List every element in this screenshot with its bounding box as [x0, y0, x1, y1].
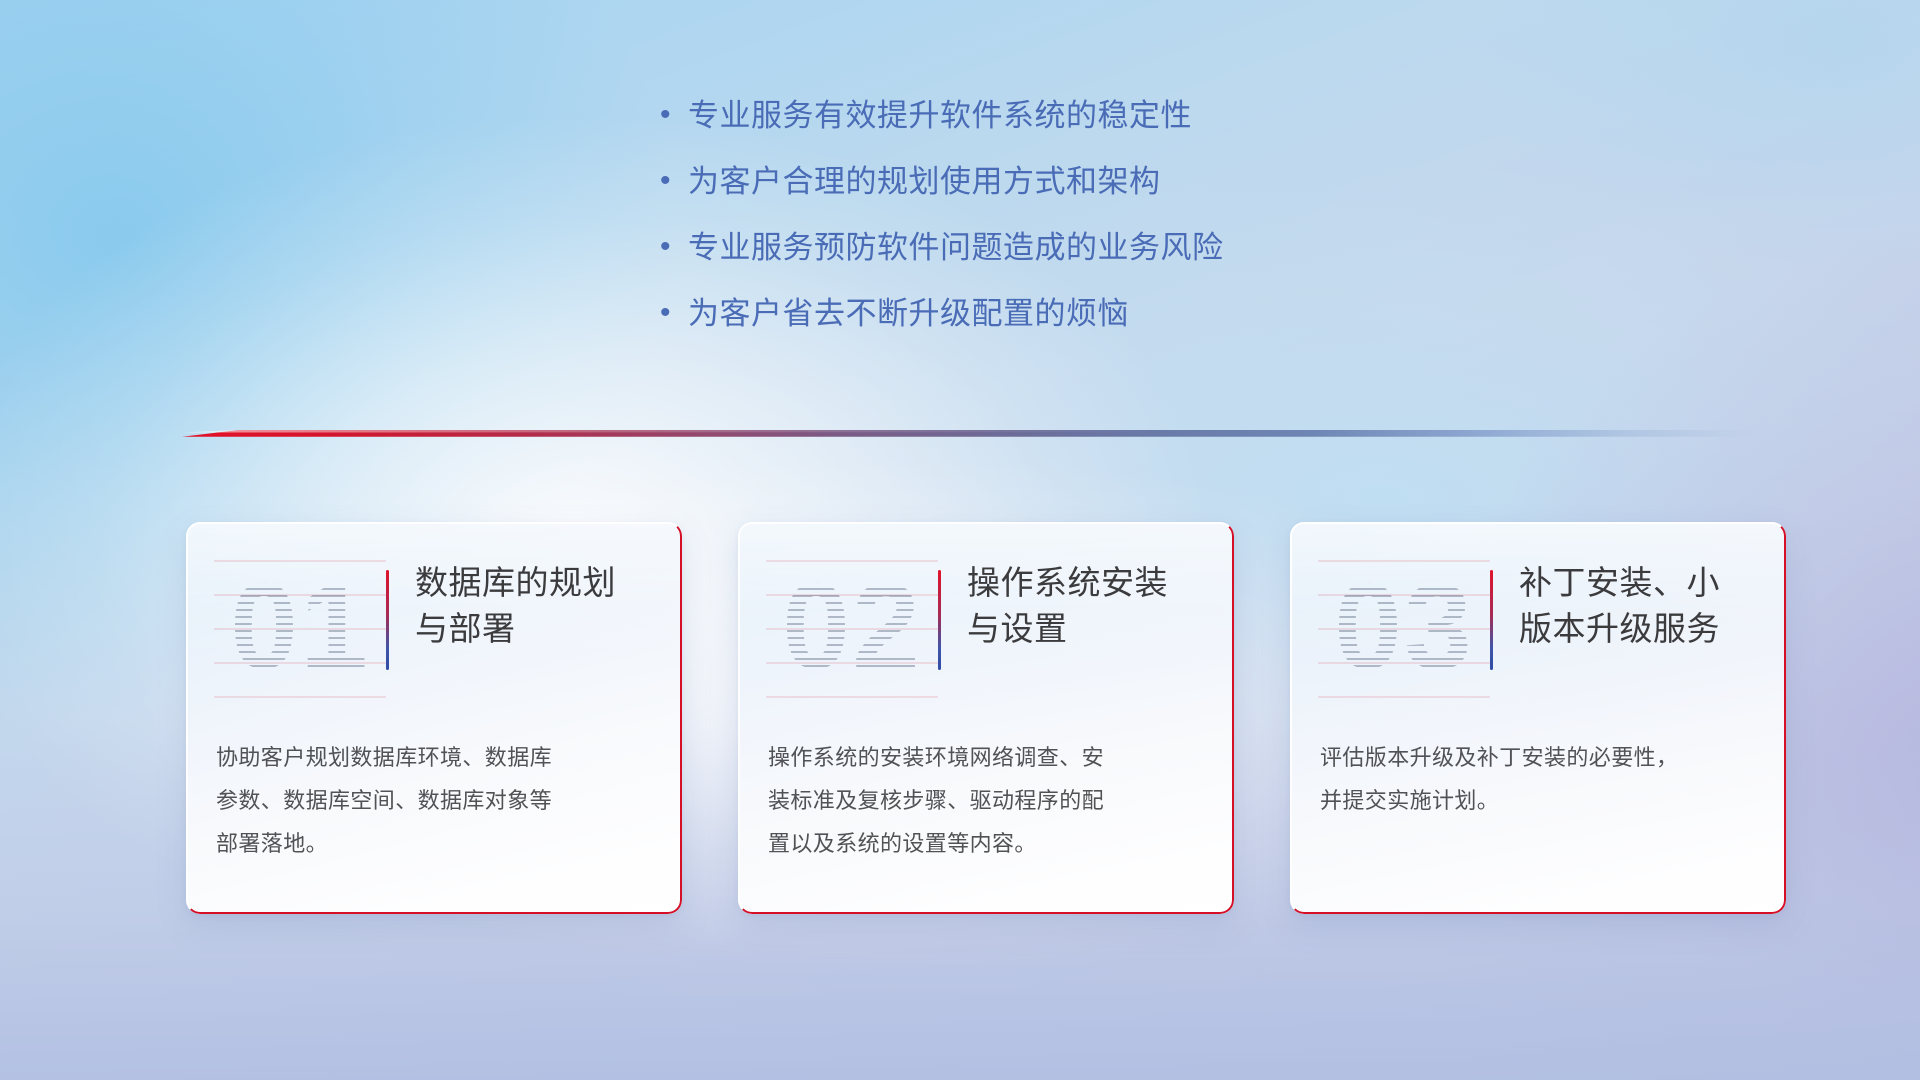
card-body-line: 参数、数据库空间、数据库对象等 [216, 779, 656, 822]
bullet-item: • 为客户合理的规划使用方式和架构 [660, 162, 1420, 214]
slide-canvas: • 专业服务有效提升软件系统的稳定性 • 为客户合理的规划使用方式和架构 • 专… [0, 0, 1920, 1080]
card-header: 02 操作系统安装 与设置 [738, 560, 1234, 710]
card-header: 01 数据库的规划 与部署 [186, 560, 682, 710]
card-title: 操作系统安装 与设置 [967, 560, 1234, 652]
card-body-line: 评估版本升级及补丁安装的必要性， [1320, 736, 1760, 779]
card-body-line: 协助客户规划数据库环境、数据库 [216, 736, 656, 779]
bullet-item: • 为客户省去不断升级配置的烦恼 [660, 294, 1420, 346]
card-header: 03 补丁安装、小 版本升级服务 [1290, 560, 1786, 710]
section-divider [182, 418, 1752, 444]
service-card-01[interactable]: 01 数据库的规划 与部署 协助客户规划数据库环境、数据库 参数、数据库空间、数… [186, 522, 682, 914]
card-body-line: 置以及系统的设置等内容。 [768, 822, 1208, 865]
card-title-line: 与部署 [415, 606, 660, 652]
card-body-line: 并提交实施计划。 [1320, 779, 1760, 822]
bullet-text: 专业服务有效提升软件系统的稳定性 [688, 96, 1420, 136]
bullet-marker-icon: • [660, 162, 688, 200]
card-number: 02 [766, 560, 938, 710]
benefits-bullet-list: • 专业服务有效提升软件系统的稳定性 • 为客户合理的规划使用方式和架构 • 专… [660, 96, 1420, 360]
card-number: 01 [214, 560, 386, 710]
card-accent-rule [1490, 570, 1493, 670]
bullet-text: 为客户合理的规划使用方式和架构 [688, 162, 1420, 202]
card-title: 补丁安装、小 版本升级服务 [1519, 560, 1786, 652]
service-card-02[interactable]: 02 操作系统安装 与设置 操作系统的安装环境网络调查、安 装标准及复核步骤、驱… [738, 522, 1234, 914]
card-accent-rule [938, 570, 941, 670]
bullet-item: • 专业服务有效提升软件系统的稳定性 [660, 96, 1420, 148]
card-title: 数据库的规划 与部署 [415, 560, 682, 652]
service-card-03[interactable]: 03 补丁安装、小 版本升级服务 评估版本升级及补丁安装的必要性， 并提交实施计… [1290, 522, 1786, 914]
card-body-line: 部署落地。 [216, 822, 656, 865]
card-title-line: 操作系统安装 [967, 560, 1212, 606]
divider-highlight-shape [182, 418, 1752, 444]
card-body-line: 操作系统的安装环境网络调查、安 [768, 736, 1208, 779]
card-title-line: 补丁安装、小 [1519, 560, 1764, 606]
card-accent-rule [386, 570, 389, 670]
service-card-row: 01 数据库的规划 与部署 协助客户规划数据库环境、数据库 参数、数据库空间、数… [186, 522, 1786, 914]
bullet-marker-icon: • [660, 228, 688, 266]
bullet-marker-icon: • [660, 294, 688, 332]
bullet-marker-icon: • [660, 96, 688, 134]
card-body-text: 评估版本升级及补丁安装的必要性， 并提交实施计划。 [1320, 736, 1760, 822]
card-number: 03 [1318, 560, 1490, 710]
card-title-line: 与设置 [967, 606, 1212, 652]
card-title-line: 数据库的规划 [415, 560, 660, 606]
bullet-item: • 专业服务预防软件问题造成的业务风险 [660, 228, 1420, 280]
bullet-text: 为客户省去不断升级配置的烦恼 [688, 294, 1420, 334]
card-title-line: 版本升级服务 [1519, 606, 1764, 652]
card-body-text: 协助客户规划数据库环境、数据库 参数、数据库空间、数据库对象等 部署落地。 [216, 736, 656, 865]
card-body-line: 装标准及复核步骤、驱动程序的配 [768, 779, 1208, 822]
bullet-text: 专业服务预防软件问题造成的业务风险 [688, 228, 1420, 268]
card-body-text: 操作系统的安装环境网络调查、安 装标准及复核步骤、驱动程序的配 置以及系统的设置… [768, 736, 1208, 865]
